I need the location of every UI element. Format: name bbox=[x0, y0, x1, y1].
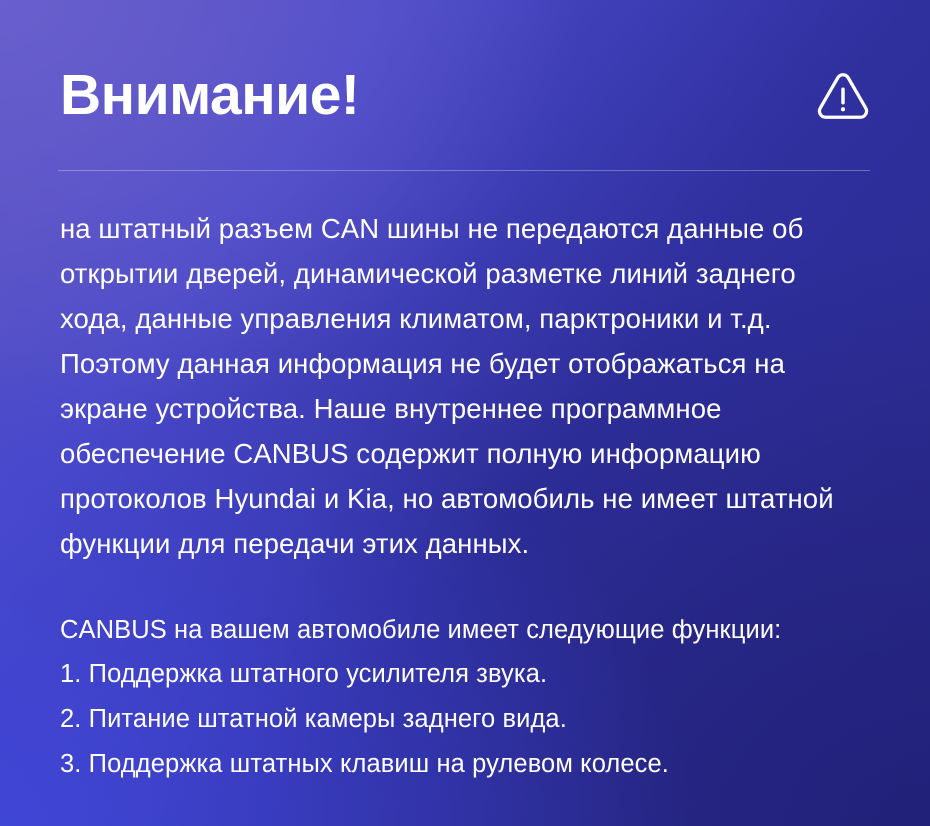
paragraph-line: экране устройства. Наше внутреннее прогр… bbox=[60, 386, 890, 431]
notice-paragraph: на штатный разъем CAN шины не передаются… bbox=[60, 206, 890, 566]
paragraph-line: обеспечение CANBUS содержит полную инфор… bbox=[60, 431, 890, 476]
list-item: 1. Поддержка штатного усилителя звука. bbox=[60, 652, 890, 697]
list-item: 3. Поддержка штатных клавиш на рулевом к… bbox=[60, 742, 890, 787]
notice-body: на штатный разъем CAN шины не передаются… bbox=[60, 206, 890, 787]
paragraph-line: хода, данные управления климатом, парктр… bbox=[60, 296, 890, 341]
paragraph-line: протоколов Hyundai и Kia, но автомобиль … bbox=[60, 476, 890, 521]
page-title: Внимание! bbox=[60, 66, 359, 126]
warning-triangle-icon bbox=[814, 67, 872, 125]
canbus-functions-block: CANBUS на вашем автомобиле имеет следующ… bbox=[60, 608, 890, 787]
paragraph-line: открытии дверей, динамической разметке л… bbox=[60, 251, 890, 296]
paragraph-line: Поэтому данная информация не будет отобр… bbox=[60, 341, 890, 386]
warning-notice-card: Внимание! на штатный разъем CAN шины не … bbox=[0, 0, 930, 826]
paragraph-line: на штатный разъем CAN шины не передаются… bbox=[60, 206, 890, 251]
header-divider bbox=[58, 170, 870, 171]
paragraph-line: функции для передачи этих данных. bbox=[60, 521, 890, 566]
functions-lead-text: CANBUS на вашем автомобиле имеет следующ… bbox=[60, 608, 890, 652]
notice-header: Внимание! bbox=[60, 48, 872, 144]
list-item: 2. Питание штатной камеры заднего вида. bbox=[60, 697, 890, 742]
